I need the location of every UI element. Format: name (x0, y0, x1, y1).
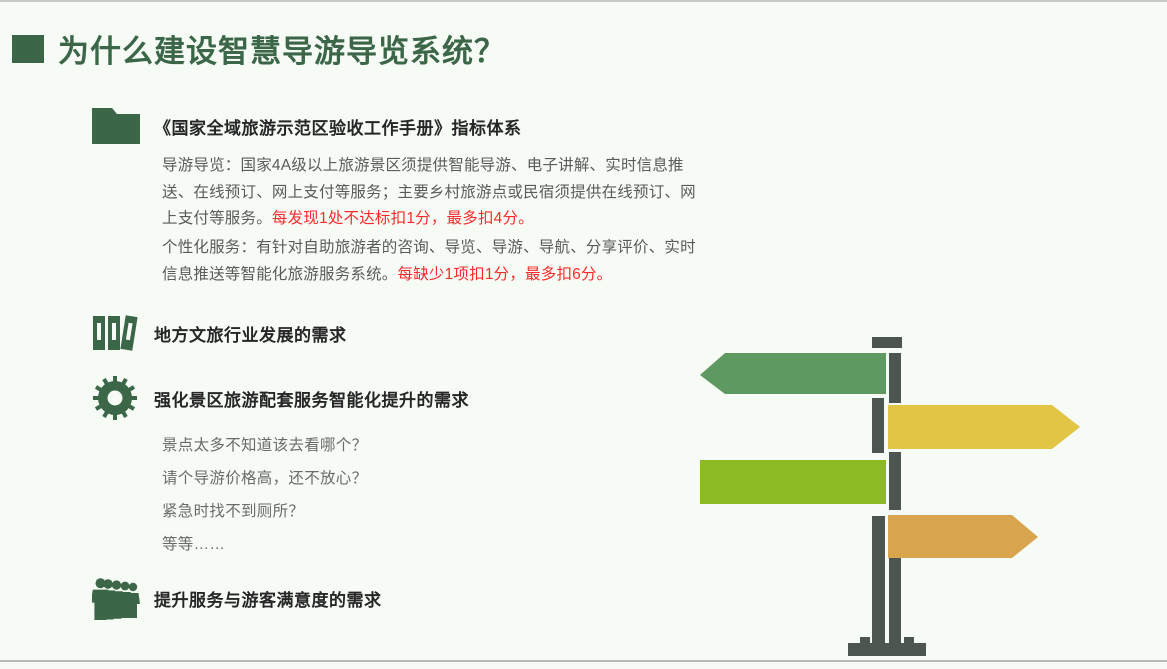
slide-root: 为什么建设智慧导游导览系统？ 《国家全域旅游示范区验收工作手册》指标体系 导游导… (0, 0, 1167, 662)
list-item: 紧急时找不到厕所？ (162, 496, 712, 529)
section-heading: 提升服务与游客满意度的需求 (154, 586, 382, 611)
section-paragraph-2: 个性化服务：有针对自助旅游者的咨询、导览、导游、导航、分享评价、实时信息推送等智… (162, 235, 707, 288)
section-satisfaction: 提升服务与游客满意度的需求 (92, 578, 712, 620)
books-icon (92, 314, 154, 352)
gear-icon (92, 376, 154, 420)
arrow-lime-left (700, 460, 886, 504)
list-item: 请个导游价格高，还不放心？ (162, 463, 712, 496)
arrow-orange-right (888, 515, 1038, 558)
section-heading: 强化景区旅游配套服务智能化提升的需求 (154, 386, 469, 411)
paragraph-2-red-text: 每缺少1项扣1分，最多扣6分。 (398, 266, 613, 283)
section-local-industry: 地方文旅行业发展的需求 (92, 314, 712, 352)
section-heading: 《国家全域旅游示范区验收工作手册》指标体系 (154, 114, 522, 139)
list-item: 景点太多不知道该去看哪个？ (162, 430, 712, 463)
content-column: 《国家全域旅游示范区验收工作手册》指标体系 导游导览：国家4A级以上旅游景区须提… (92, 106, 712, 620)
pain-point-list: 景点太多不知道该去看哪个？ 请个导游价格高，还不放心？ 紧急时找不到厕所？ 等等… (162, 430, 712, 561)
people-group-icon (92, 578, 154, 620)
section-heading: 地方文旅行业发展的需求 (154, 321, 347, 346)
list-item: 等等…… (162, 529, 712, 562)
section-service-upgrade: 强化景区旅游配套服务智能化提升的需求 景点太多不知道该去看哪个？ 请个导游价格高… (92, 376, 712, 561)
signpost-illustration (700, 332, 1100, 664)
paragraph-1-red-text: 每发现1处不达标扣1分，最多扣4分。 (272, 210, 534, 227)
arrow-green-left (700, 353, 886, 394)
title-bullet-square (12, 35, 44, 63)
page-title: 为什么建设智慧导游导览系统？ (12, 26, 506, 71)
section-handbook: 《国家全域旅游示范区验收工作手册》指标体系 导游导览：国家4A级以上旅游景区须提… (92, 106, 712, 288)
folder-icon (92, 106, 154, 146)
section-paragraph-1: 导游导览：国家4A级以上旅游景区须提供智能导游、电子讲解、实时信息推送、在线预订… (162, 153, 707, 233)
arrow-yellow-right (888, 405, 1080, 449)
title-text: 为什么建设智慧导游导览系统？ (58, 26, 506, 71)
